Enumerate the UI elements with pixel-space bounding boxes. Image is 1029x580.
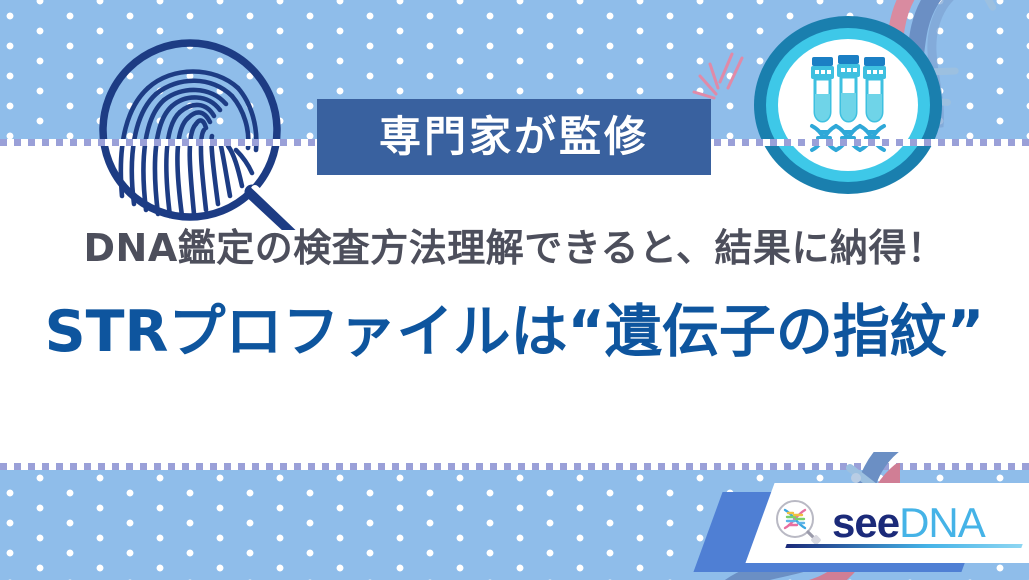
banner-image: 専門家が監修 DNA鑑定の検査方法理解できると、結果に納得！ STRプロファイル… (0, 0, 1029, 580)
fingerprint-magnifier-icon (62, 18, 314, 230)
logo-see-text: see (832, 499, 899, 546)
expert-supervised-badge: 専門家が監修 (317, 99, 711, 175)
headline-text: STRプロファイルは“遺伝子の指紋” (0, 302, 1029, 364)
dna-magnifier-logo-icon (772, 497, 824, 549)
dashed-separator-bottom (0, 463, 1029, 470)
badge-label: 専門家が監修 (379, 116, 649, 158)
subtitle-text: DNA鑑定の検査方法理解できると、結果に納得！ (0, 228, 1029, 270)
test-tubes-circle-icon (750, 14, 946, 196)
seedna-logo[interactable]: seeDNA (698, 474, 1029, 580)
logo-dna-text: DNA (899, 499, 985, 546)
logo-underline (785, 544, 1022, 548)
